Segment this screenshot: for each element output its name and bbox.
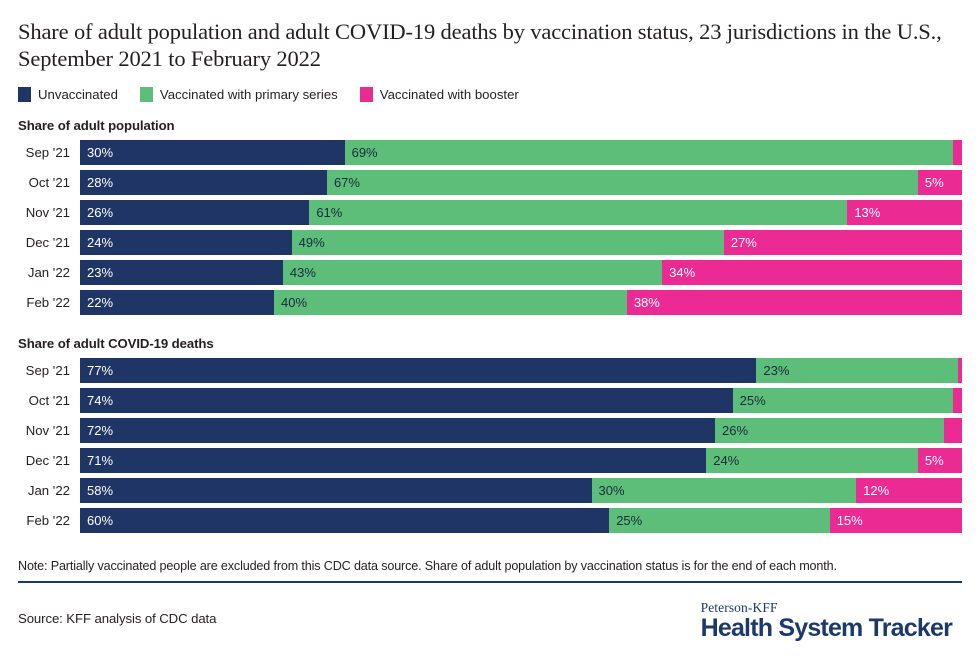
bar-segment-primary-series[interactable]: 67% bbox=[327, 170, 918, 195]
bar-segment-booster[interactable]: 34% bbox=[662, 260, 962, 285]
bar-segment-label: 49% bbox=[292, 230, 325, 255]
bar-segment-unvaccinated[interactable]: 30% bbox=[80, 140, 345, 165]
bar-segment-unvaccinated[interactable]: 23% bbox=[80, 260, 283, 285]
bar-segment-label: 40% bbox=[274, 290, 307, 315]
bar-segment-label: 26% bbox=[80, 200, 113, 225]
bar-segment-booster[interactable]: 5% bbox=[918, 448, 962, 473]
stacked-bar: 60%25%15% bbox=[80, 508, 962, 533]
legend-label-booster: Vaccinated with booster bbox=[380, 87, 519, 102]
note-text: Note: Partially vaccinated people are ex… bbox=[18, 558, 962, 574]
row-label: Oct '21 bbox=[18, 175, 80, 190]
source-text: Source: KFF analysis of CDC data bbox=[18, 600, 216, 626]
stacked-bar: 30%69% bbox=[80, 140, 962, 165]
bar-segment-booster[interactable] bbox=[958, 358, 962, 383]
bar-segment-primary-series[interactable]: 24% bbox=[706, 448, 918, 473]
bar-segment-label: 77% bbox=[80, 358, 113, 383]
bar-segment-primary-series[interactable]: 43% bbox=[283, 260, 662, 285]
bar-segment-primary-series[interactable]: 26% bbox=[715, 418, 944, 443]
bar-segment-label: 23% bbox=[80, 260, 113, 285]
stacked-bar: 58%30%12% bbox=[80, 478, 962, 503]
chart-row: Jan '2258%30%12% bbox=[18, 478, 962, 503]
stacked-bar: 24%49%27% bbox=[80, 230, 962, 255]
bar-segment-booster[interactable] bbox=[953, 388, 962, 413]
bar-segment-primary-series[interactable]: 30% bbox=[592, 478, 857, 503]
row-label: Feb '22 bbox=[18, 295, 80, 310]
bar-segment-label: 24% bbox=[706, 448, 739, 473]
bar-segment-unvaccinated[interactable]: 22% bbox=[80, 290, 274, 315]
footer-divider bbox=[18, 581, 962, 583]
bar-segment-unvaccinated[interactable]: 60% bbox=[80, 508, 609, 533]
bar-segment-label: 27% bbox=[724, 230, 757, 255]
bar-segment-label: 24% bbox=[80, 230, 113, 255]
legend-swatch-primary_series bbox=[140, 87, 153, 102]
row-label: Jan '22 bbox=[18, 483, 80, 498]
bar-segment-label: 67% bbox=[327, 170, 360, 195]
chart-title: Share of adult population bbox=[18, 118, 962, 133]
bar-segment-booster[interactable] bbox=[953, 140, 962, 165]
bar-segment-label: 12% bbox=[856, 478, 889, 503]
legend-label-primary_series: Vaccinated with primary series bbox=[160, 87, 338, 102]
bar-segment-primary-series[interactable]: 61% bbox=[309, 200, 847, 225]
legend-item-booster[interactable]: Vaccinated with booster bbox=[360, 87, 519, 102]
bar-segment-booster[interactable]: 12% bbox=[856, 478, 962, 503]
bar-segment-label: 61% bbox=[309, 200, 342, 225]
row-label: Sep '21 bbox=[18, 145, 80, 160]
stacked-bar: 77%23% bbox=[80, 358, 962, 383]
row-label: Dec '21 bbox=[18, 235, 80, 250]
stacked-bar: 26%61%13% bbox=[80, 200, 962, 225]
bar-segment-label: 22% bbox=[80, 290, 113, 315]
row-label: Dec '21 bbox=[18, 453, 80, 468]
bar-segment-unvaccinated[interactable]: 74% bbox=[80, 388, 733, 413]
chart-row: Jan '2223%43%34% bbox=[18, 260, 962, 285]
bar-segment-label: 26% bbox=[715, 418, 748, 443]
bar-segment-unvaccinated[interactable]: 72% bbox=[80, 418, 715, 443]
logo-health-system-tracker: Health System Tracker bbox=[701, 615, 952, 642]
bar-segment-unvaccinated[interactable]: 71% bbox=[80, 448, 706, 473]
page-title: Share of adult population and adult COVI… bbox=[18, 0, 962, 72]
legend-swatch-booster bbox=[360, 87, 373, 102]
chart-page: Share of adult population and adult COVI… bbox=[0, 0, 980, 667]
row-label: Jan '22 bbox=[18, 265, 80, 280]
bar-segment-label: 30% bbox=[80, 140, 113, 165]
bar-segment-booster[interactable]: 13% bbox=[847, 200, 962, 225]
bar-segment-label: 38% bbox=[627, 290, 660, 315]
stacked-bar: 23%43%34% bbox=[80, 260, 962, 285]
note-container: Note: Partially vaccinated people are ex… bbox=[18, 558, 962, 583]
legend-swatch-unvaccinated bbox=[18, 87, 31, 102]
row-label: Oct '21 bbox=[18, 393, 80, 408]
bar-segment-unvaccinated[interactable]: 26% bbox=[80, 200, 309, 225]
bar-segment-label: 5% bbox=[918, 170, 944, 195]
row-label: Sep '21 bbox=[18, 363, 80, 378]
chart-row: Nov '2126%61%13% bbox=[18, 200, 962, 225]
row-label: Nov '21 bbox=[18, 423, 80, 438]
chart-section-deaths: Share of adult COVID-19 deathsSep '2177%… bbox=[18, 336, 962, 533]
bar-segment-booster[interactable]: 38% bbox=[627, 290, 962, 315]
bar-segment-primary-series[interactable]: 23% bbox=[756, 358, 958, 383]
bar-segment-booster[interactable]: 5% bbox=[918, 170, 962, 195]
row-label: Feb '22 bbox=[18, 513, 80, 528]
chart-section-population: Share of adult populationSep '2130%69%Oc… bbox=[18, 118, 962, 315]
bar-segment-booster[interactable]: 27% bbox=[724, 230, 962, 255]
bar-segment-label: 25% bbox=[609, 508, 642, 533]
bar-segment-primary-series[interactable]: 25% bbox=[609, 508, 830, 533]
bar-segment-label: 72% bbox=[80, 418, 113, 443]
legend-item-primary_series[interactable]: Vaccinated with primary series bbox=[140, 87, 338, 102]
bar-segment-primary-series[interactable]: 49% bbox=[292, 230, 724, 255]
bar-segment-unvaccinated[interactable]: 77% bbox=[80, 358, 756, 383]
chart-row: Oct '2174%25% bbox=[18, 388, 962, 413]
chart-row: Dec '2124%49%27% bbox=[18, 230, 962, 255]
legend-label-unvaccinated: Unvaccinated bbox=[38, 87, 118, 102]
row-label: Nov '21 bbox=[18, 205, 80, 220]
stacked-bar: 72%26% bbox=[80, 418, 962, 443]
bar-segment-booster[interactable]: 15% bbox=[830, 508, 962, 533]
chart-row: Sep '2177%23% bbox=[18, 358, 962, 383]
bar-segment-unvaccinated[interactable]: 28% bbox=[80, 170, 327, 195]
chart-row: Feb '2222%40%38% bbox=[18, 290, 962, 315]
chart-row: Dec '2171%24%5% bbox=[18, 448, 962, 473]
bar-segment-label: 13% bbox=[847, 200, 880, 225]
bar-segment-label: 30% bbox=[592, 478, 625, 503]
bar-segment-label: 5% bbox=[918, 448, 944, 473]
bar-segment-label: 74% bbox=[80, 388, 113, 413]
bar-segment-label: 71% bbox=[80, 448, 113, 473]
bar-segment-label: 28% bbox=[80, 170, 113, 195]
chart-legend: UnvaccinatedVaccinated with primary seri… bbox=[18, 86, 962, 102]
bar-segment-primary-series[interactable]: 40% bbox=[274, 290, 627, 315]
chart-row: Oct '2128%67%5% bbox=[18, 170, 962, 195]
stacked-bar: 28%67%5% bbox=[80, 170, 962, 195]
legend-item-unvaccinated[interactable]: Unvaccinated bbox=[18, 87, 118, 102]
bar-segment-booster[interactable] bbox=[944, 418, 962, 443]
bar-segment-label: 15% bbox=[830, 508, 863, 533]
chart-row: Sep '2130%69% bbox=[18, 140, 962, 165]
stacked-bar: 74%25% bbox=[80, 388, 962, 413]
footer: Source: KFF analysis of CDC data Peterso… bbox=[18, 600, 962, 642]
logo-peterson-kff: Peterson-KFF bbox=[701, 600, 952, 615]
chart-title: Share of adult COVID-19 deaths bbox=[18, 336, 962, 351]
bar-segment-label: 43% bbox=[283, 260, 316, 285]
bar-segment-label: 60% bbox=[80, 508, 113, 533]
bar-segment-label: 25% bbox=[733, 388, 766, 413]
bar-segment-label: 34% bbox=[662, 260, 695, 285]
bar-segment-label: 69% bbox=[345, 140, 378, 165]
chart-row: Feb '2260%25%15% bbox=[18, 508, 962, 533]
logo: Peterson-KFF Health System Tracker bbox=[701, 600, 962, 642]
bar-segment-label: 58% bbox=[80, 478, 113, 503]
stacked-bar: 71%24%5% bbox=[80, 448, 962, 473]
chart-row: Nov '2172%26% bbox=[18, 418, 962, 443]
bar-segment-primary-series[interactable]: 69% bbox=[345, 140, 954, 165]
stacked-bar: 22%40%38% bbox=[80, 290, 962, 315]
bar-segment-unvaccinated[interactable]: 58% bbox=[80, 478, 592, 503]
bar-segment-primary-series[interactable]: 25% bbox=[733, 388, 954, 413]
bar-segment-unvaccinated[interactable]: 24% bbox=[80, 230, 292, 255]
bar-segment-label: 23% bbox=[756, 358, 789, 383]
